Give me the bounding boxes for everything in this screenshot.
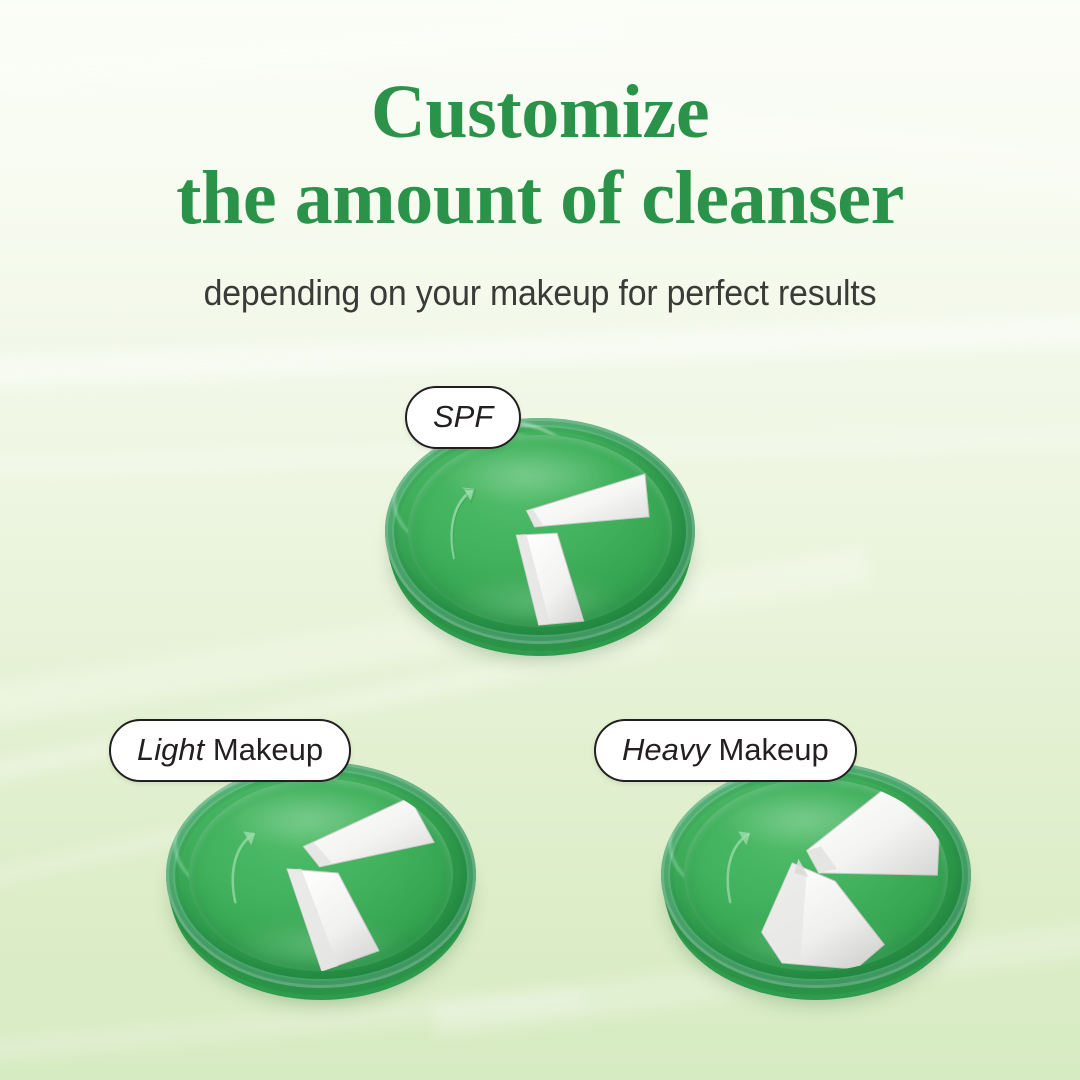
badge-light-makeup[interactable]: Light Makeup	[109, 719, 351, 782]
cream-wedge	[527, 474, 650, 527]
cream-wedge	[304, 797, 435, 866]
jar-inner-disc	[684, 779, 948, 971]
cream-portions-heavy-makeup	[684, 779, 948, 971]
cream-wedge	[762, 859, 885, 969]
cream-wedge	[287, 869, 379, 971]
badge-spf-emphasis: SPF	[433, 399, 493, 434]
badge-heavy-rest: Makeup	[710, 732, 829, 767]
badge-spf[interactable]: SPF	[405, 386, 521, 449]
jar-spf	[385, 418, 695, 644]
bg-streak	[0, 309, 1080, 391]
headline-line-1: Customize	[0, 70, 1080, 156]
badge-light-rest: Makeup	[204, 732, 323, 767]
page-subtitle: depending on your makeup for perfect res…	[32, 272, 1047, 314]
jar-lid-body	[385, 418, 695, 644]
infographic-canvas: Customize the amount of cleanser dependi…	[0, 0, 1080, 1080]
page-title: Customize the amount of cleanser	[0, 70, 1080, 242]
cream-wedge	[807, 787, 940, 875]
jar-inner-disc	[408, 435, 672, 627]
cream-portions-spf	[408, 435, 672, 627]
jar-light-makeup	[166, 762, 476, 988]
badge-heavy-makeup[interactable]: Heavy Makeup	[594, 719, 857, 782]
badge-heavy-emphasis: Heavy	[622, 732, 710, 767]
cream-wedge	[517, 533, 584, 625]
jar-lid-body	[661, 762, 971, 988]
jar-inner-disc	[189, 779, 453, 971]
cream-portions-light-makeup	[189, 779, 453, 971]
badge-light-emphasis: Light	[137, 732, 204, 767]
jar-lid-body	[166, 762, 476, 988]
jar-heavy-makeup	[661, 762, 971, 988]
headline-line-2: the amount of cleanser	[0, 156, 1080, 242]
